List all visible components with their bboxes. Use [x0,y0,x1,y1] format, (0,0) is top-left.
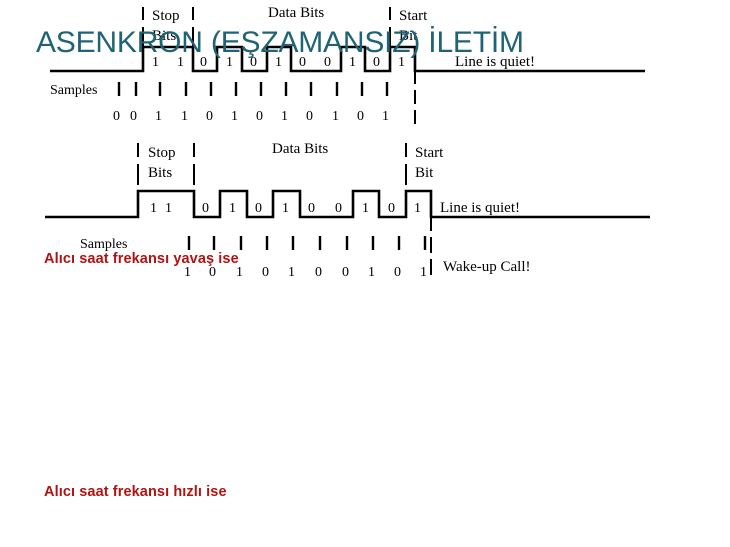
caption-fast-clock: Alıcı saat frekansı hızlı ise [44,484,227,500]
sample-value: 1 [332,109,339,124]
bit-value: 0 [308,201,315,216]
sample-value: 1 [236,265,243,280]
sample-value: 1 [382,109,389,124]
sample-value: 1 [288,265,295,280]
label-start-bit-line2: Bit [415,165,434,181]
sample-value: 0 [256,109,263,124]
label-data-bits: Data Bits [272,141,328,157]
sample-value: 1 [184,265,191,280]
slide-canvas: ASENKRON (EŞZAMANSIZ) İLETİM Stop Bits D… [0,0,730,547]
bit-value: 1 [414,201,421,216]
sample-value: 1 [231,109,238,124]
bit-value: 1 [229,201,236,216]
label-samples: Samples [80,237,127,252]
sample-value: 0 [315,265,322,280]
figure-slow-clock: Stop Bits Data Bits Start Bit 1 1 0 1 0 … [0,0,730,135]
label-stop-bits-line2: Bits [148,165,172,181]
sample-value: 0 [262,265,269,280]
bit-value: 1 [362,201,369,216]
page-title: ASENKRON (EŞZAMANSIZ) İLETİM [36,26,524,60]
sample-value: 0 [306,109,313,124]
sample-value: 0 [206,109,213,124]
sample-value: 1 [420,265,427,280]
label-start-bit-line1: Start [399,8,428,24]
sample-value: 1 [368,265,375,280]
sample-value: 1 [181,109,188,124]
label-line-is-quiet: Line is quiet! [440,200,520,216]
label-start-bit-line1: Start [415,145,444,161]
waveform-line-fast [45,191,650,217]
sample-value: 0 [394,265,401,280]
bit-value: 1 [165,201,172,216]
sample-value: 0 [342,265,349,280]
bit-value: 0 [388,201,395,216]
sample-value: 0 [130,109,137,124]
bit-value: 1 [282,201,289,216]
figure1-svg: Stop Bits Data Bits Start Bit 1 1 0 1 0 … [0,0,730,135]
bit-value: 0 [255,201,262,216]
bit-value: 1 [150,201,157,216]
sample-value: 0 [357,109,364,124]
label-data-bits: Data Bits [268,5,324,21]
label-stop-bits-line1: Stop [148,145,176,161]
bit-value: 0 [202,201,209,216]
sample-value: 0 [113,109,120,124]
caption-slow-clock: Alıcı saat frekansı yavaş ise [44,251,239,267]
sample-value: 1 [155,109,162,124]
label-wake-up-call: Wake-up Call! [443,259,531,275]
label-samples: Samples [50,83,97,98]
sample-value: 0 [209,265,216,280]
bit-value: 0 [335,201,342,216]
sample-value: 1 [281,109,288,124]
label-stop-bits-line1: Stop [152,8,180,24]
